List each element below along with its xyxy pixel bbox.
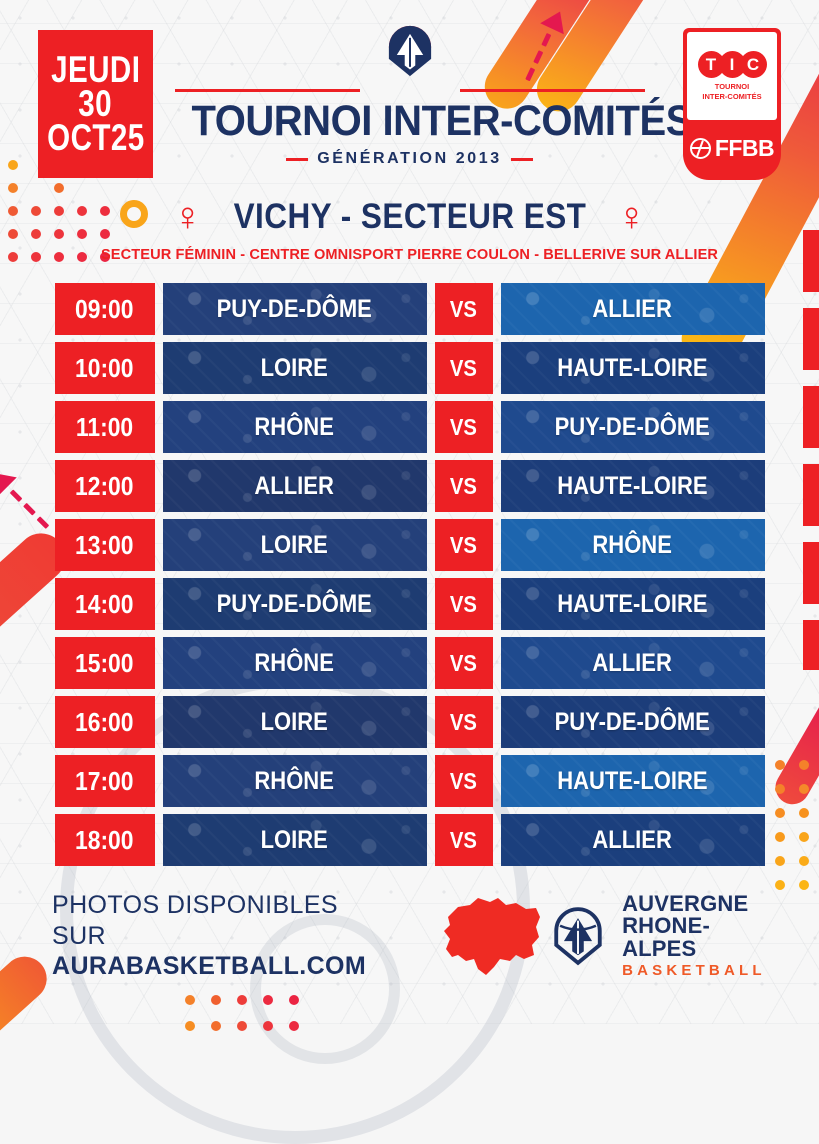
match-time: 15:00 xyxy=(55,637,155,689)
decorative-dot-grid xyxy=(775,760,809,890)
match-vs-label: VS xyxy=(450,591,477,618)
tic-logo: T I C TOURNOI INTER-COMITÉS xyxy=(687,32,777,120)
match-time-label: 16:00 xyxy=(75,707,134,738)
match-home-team-label: ALLIER xyxy=(255,472,334,501)
match-away-team: ALLIER xyxy=(501,637,765,689)
venus-symbol-icon: ♀ xyxy=(616,197,646,237)
date-badge: JEUDI 30 OCT25 xyxy=(38,30,153,178)
match-home-team-label: LOIRE xyxy=(261,354,328,383)
match-home-team: LOIRE xyxy=(163,814,427,866)
match-home-team: RHÔNE xyxy=(163,755,427,807)
match-row: 11:00RHÔNEVSPUY-DE-DÔME xyxy=(55,401,765,453)
match-row: 10:00LOIREVSHAUTE-LOIRE xyxy=(55,342,765,394)
date-month-year: OCT25 xyxy=(47,121,144,155)
match-time: 12:00 xyxy=(55,460,155,512)
title-block: TOURNOI INTER-COMITÉS GÉNÉRATION 2013 xyxy=(175,18,645,168)
venus-symbol-icon: ♀ xyxy=(173,197,203,237)
match-home-team: RHÔNE xyxy=(163,401,427,453)
match-away-team-label: ALLIER xyxy=(593,649,672,678)
match-home-team-label: LOIRE xyxy=(261,826,328,855)
match-away-team-label: PUY-DE-DÔME xyxy=(555,708,710,737)
tic-letter-c: C xyxy=(740,51,767,78)
aura-basketball-mark-icon xyxy=(377,18,443,84)
match-away-team-label: HAUTE-LOIRE xyxy=(557,590,707,619)
aura-line-3: BASKETBALL xyxy=(622,962,767,979)
tic-subtitle-line1: TOURNOI xyxy=(702,82,761,91)
ffbb-logo: FFBB xyxy=(687,120,777,176)
match-time-label: 14:00 xyxy=(75,589,134,620)
match-home-team-label: RHÔNE xyxy=(255,413,334,442)
match-away-team-label: RHÔNE xyxy=(593,531,672,560)
match-time-label: 13:00 xyxy=(75,530,134,561)
match-home-team-label: PUY-DE-DÔME xyxy=(217,295,372,324)
match-home-team-label: LOIRE xyxy=(261,531,328,560)
match-row: 09:00PUY-DE-DÔMEVSALLIER xyxy=(55,283,765,335)
generation-label: GÉNÉRATION 2013 xyxy=(317,150,502,168)
match-away-team-label: HAUTE-LOIRE xyxy=(557,354,707,383)
match-away-team: ALLIER xyxy=(501,283,765,335)
match-time-label: 10:00 xyxy=(75,353,134,384)
match-vs-label: VS xyxy=(450,768,477,795)
tic-subtitle: TOURNOI INTER-COMITÉS xyxy=(702,82,761,101)
match-time-label: 18:00 xyxy=(75,825,134,856)
venue-line: ♀ VICHY - SECTEUR EST ♀ xyxy=(0,197,819,237)
match-away-team-label: ALLIER xyxy=(593,295,672,324)
match-home-team: RHÔNE xyxy=(163,637,427,689)
venue-details: SECTEUR FÉMININ - CENTRE OMNISPORT PIERR… xyxy=(16,246,802,263)
match-vs-label: VS xyxy=(450,650,477,677)
ffbb-label: FFBB xyxy=(715,135,774,162)
match-vs: VS xyxy=(435,519,493,571)
poster-header: JEUDI 30 OCT25 TOURNOI INTER-COMITÉS GÉN… xyxy=(0,0,819,195)
match-time-label: 11:00 xyxy=(76,412,133,443)
match-home-team: PUY-DE-DÔME xyxy=(163,283,427,335)
match-away-team: PUY-DE-DÔME xyxy=(501,696,765,748)
match-time: 17:00 xyxy=(55,755,155,807)
match-home-team: LOIRE xyxy=(163,696,427,748)
match-away-team: HAUTE-LOIRE xyxy=(501,342,765,394)
date-day-number: 30 xyxy=(79,87,113,121)
ffbb-ball-icon xyxy=(690,138,711,159)
match-row: 15:00RHÔNEVSALLIER xyxy=(55,637,765,689)
match-time-label: 12:00 xyxy=(75,471,134,502)
match-schedule: 09:00PUY-DE-DÔMEVSALLIER10:00LOIREVSHAUT… xyxy=(55,283,765,866)
title-generation: GÉNÉRATION 2013 xyxy=(175,150,645,168)
match-away-team-label: ALLIER xyxy=(593,826,672,855)
match-vs: VS xyxy=(435,283,493,335)
match-time: 10:00 xyxy=(55,342,155,394)
match-vs-label: VS xyxy=(450,355,477,382)
decorative-dashed-red-bar xyxy=(803,230,819,670)
match-home-team: LOIRE xyxy=(163,519,427,571)
match-row: 18:00LOIREVSALLIER xyxy=(55,814,765,866)
match-vs: VS xyxy=(435,401,493,453)
match-away-team: HAUTE-LOIRE xyxy=(501,578,765,630)
match-time: 16:00 xyxy=(55,696,155,748)
match-time: 11:00 xyxy=(55,401,155,453)
location-block: ♀ VICHY - SECTEUR EST ♀ SECTEUR FÉMININ … xyxy=(0,197,819,263)
match-vs: VS xyxy=(435,755,493,807)
match-row: 12:00ALLIERVSHAUTE-LOIRE xyxy=(55,460,765,512)
match-vs-label: VS xyxy=(450,296,477,323)
match-home-team: LOIRE xyxy=(163,342,427,394)
photos-line-1: PHOTOS DISPONIBLES xyxy=(52,890,400,921)
match-vs-label: VS xyxy=(450,709,477,736)
match-away-team: RHÔNE xyxy=(501,519,765,571)
match-home-team: ALLIER xyxy=(163,460,427,512)
decorative-dot-grid xyxy=(185,995,299,1031)
match-vs-label: VS xyxy=(450,414,477,441)
match-time: 18:00 xyxy=(55,814,155,866)
match-vs: VS xyxy=(435,460,493,512)
tic-letters: T I C xyxy=(701,51,764,78)
aura-basketball-mark-icon xyxy=(546,904,610,968)
match-vs: VS xyxy=(435,637,493,689)
match-home-team-label: LOIRE xyxy=(261,708,328,737)
match-vs: VS xyxy=(435,696,493,748)
aura-line-1: AUVERGNE xyxy=(622,893,767,915)
match-row: 17:00RHÔNEVSHAUTE-LOIRE xyxy=(55,755,765,807)
poster-footer: PHOTOS DISPONIBLES SUR AURABASKETBALL.CO… xyxy=(0,890,819,982)
match-away-team-label: HAUTE-LOIRE xyxy=(557,472,707,501)
aura-footer-text: AUVERGNE RHONE-ALPES BASKETBALL xyxy=(622,893,767,979)
match-home-team-label: RHÔNE xyxy=(255,767,334,796)
aura-footer-logo: AUVERGNE RHONE-ALPES BASKETBALL xyxy=(546,893,767,979)
page-title: TOURNOI INTER-COMITÉS xyxy=(191,97,628,146)
match-away-team: HAUTE-LOIRE xyxy=(501,755,765,807)
photos-line-2-prefix: SUR xyxy=(52,922,106,950)
match-away-team: PUY-DE-DÔME xyxy=(501,401,765,453)
auvergne-rhone-alpes-map-icon xyxy=(440,889,546,984)
match-home-team-label: RHÔNE xyxy=(255,649,334,678)
tic-ffbb-badge: T I C TOURNOI INTER-COMITÉS FFBB xyxy=(683,28,781,180)
match-time-label: 09:00 xyxy=(75,294,134,325)
match-away-team-label: PUY-DE-DÔME xyxy=(555,413,710,442)
match-time: 14:00 xyxy=(55,578,155,630)
match-time: 09:00 xyxy=(55,283,155,335)
match-away-team: ALLIER xyxy=(501,814,765,866)
match-row: 16:00LOIREVSPUY-DE-DÔME xyxy=(55,696,765,748)
date-day-name: JEUDI xyxy=(51,53,140,87)
photos-website-link[interactable]: AURABASKETBALL.COM xyxy=(52,952,366,980)
match-time-label: 15:00 xyxy=(75,648,134,679)
match-vs-label: VS xyxy=(450,532,477,559)
venue-name: VICHY - SECTEUR EST xyxy=(233,197,586,237)
match-away-team-label: HAUTE-LOIRE xyxy=(557,767,707,796)
photos-availability-text: PHOTOS DISPONIBLES SUR AURABASKETBALL.CO… xyxy=(52,890,400,982)
match-away-team: HAUTE-LOIRE xyxy=(501,460,765,512)
match-home-team: PUY-DE-DÔME xyxy=(163,578,427,630)
match-vs: VS xyxy=(435,342,493,394)
match-home-team-label: PUY-DE-DÔME xyxy=(217,590,372,619)
match-vs-label: VS xyxy=(450,473,477,500)
aura-line-2: RHONE-ALPES xyxy=(622,915,767,960)
match-vs: VS xyxy=(435,578,493,630)
match-vs-label: VS xyxy=(450,827,477,854)
tic-subtitle-line2: INTER-COMITÉS xyxy=(702,92,761,101)
title-divider xyxy=(175,86,645,94)
match-vs: VS xyxy=(435,814,493,866)
match-row: 14:00PUY-DE-DÔMEVSHAUTE-LOIRE xyxy=(55,578,765,630)
match-time-label: 17:00 xyxy=(75,766,134,797)
match-row: 13:00LOIREVSRHÔNE xyxy=(55,519,765,571)
match-time: 13:00 xyxy=(55,519,155,571)
